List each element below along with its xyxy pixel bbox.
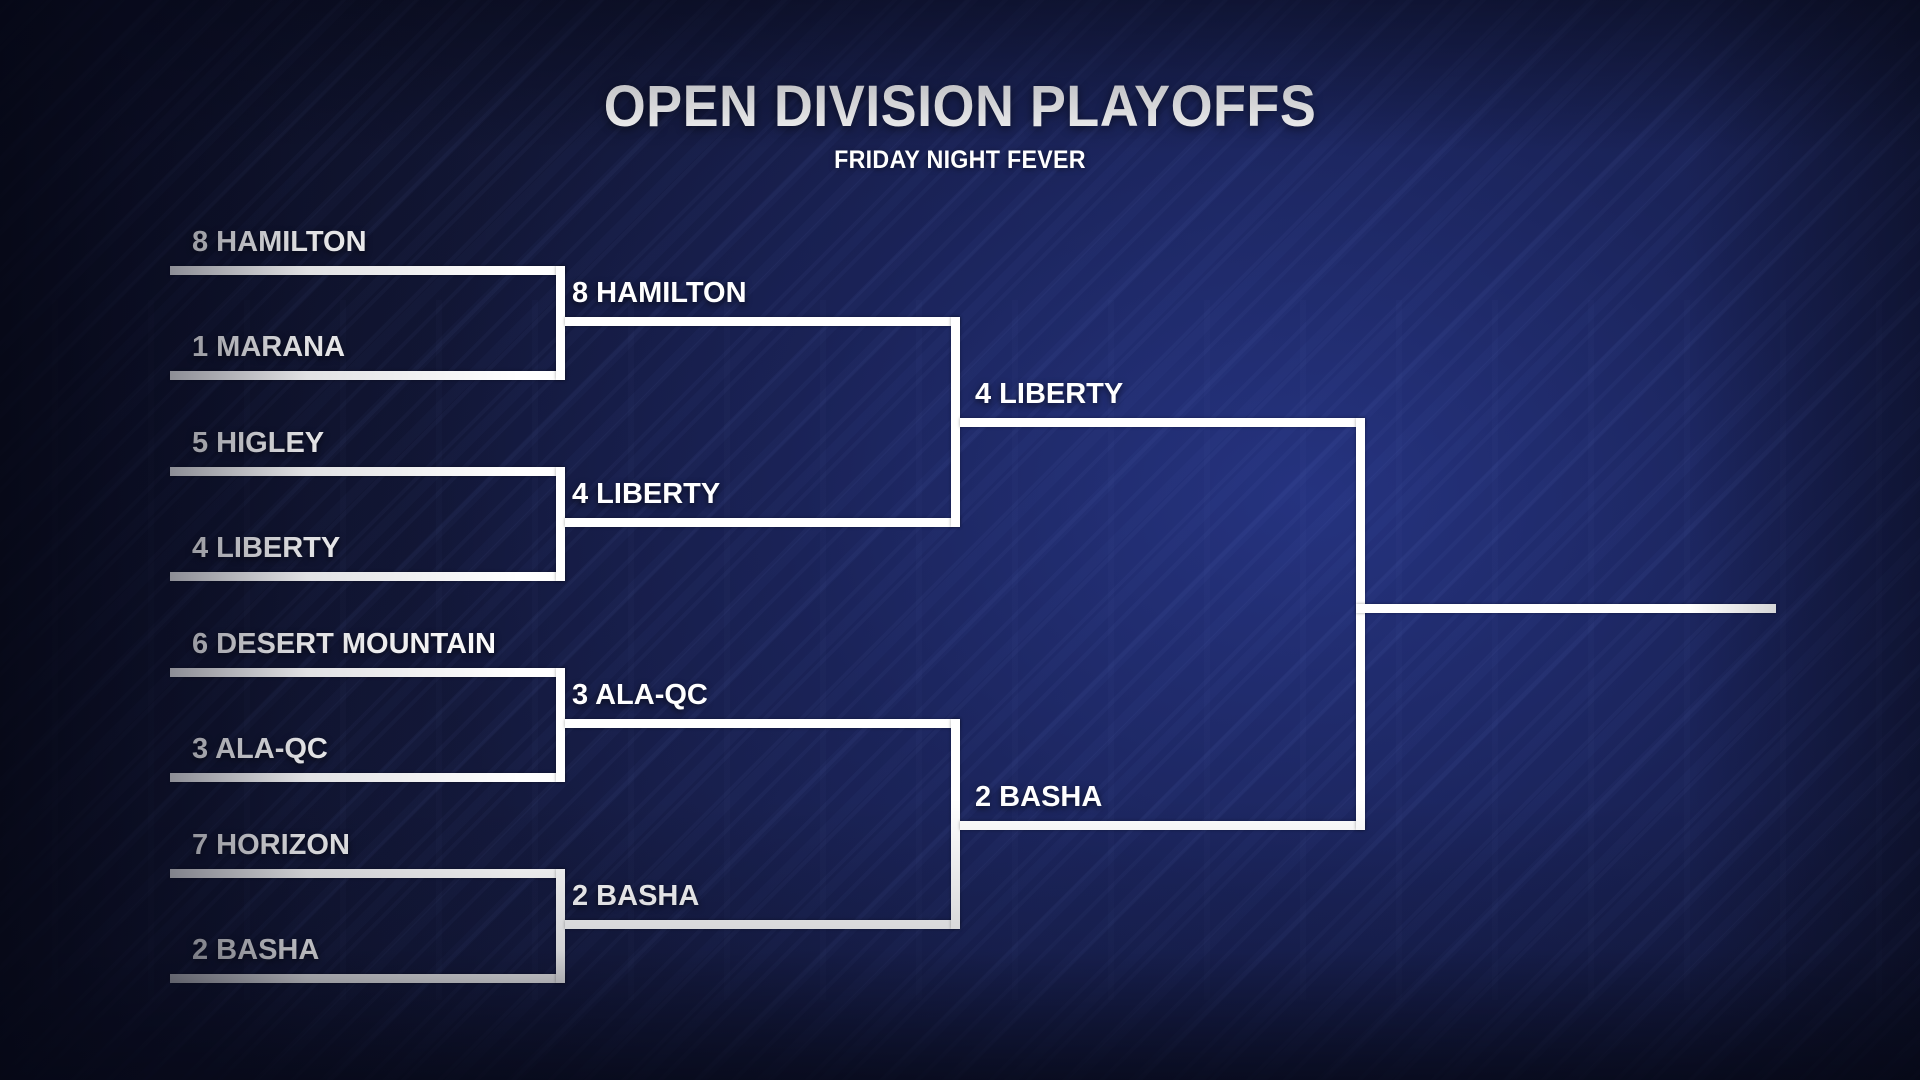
bracket-graphic: OPEN DIVISION PLAYOFFS FRIDAY NIGHT FEVE… <box>0 0 1920 1080</box>
bracket-slot-r3-bottom[interactable]: 2 BASHA <box>975 783 1102 812</box>
bracket-line-r1-m4-top <box>170 869 565 878</box>
bracket-line-champion <box>1356 604 1776 613</box>
bracket: 8 HAMILTON 1 MARANA 5 HIGLEY 4 LIBERTY 6… <box>0 0 1920 1080</box>
bracket-slot-r1-m1-bottom[interactable]: 1 MARANA <box>192 333 345 362</box>
bracket-slot-r1-m1-top[interactable]: 8 HAMILTON <box>192 228 367 257</box>
bracket-connector-r2-m2 <box>951 719 960 929</box>
bracket-slot-r1-m4-bottom[interactable]: 2 BASHA <box>192 936 319 965</box>
bracket-line-r3-top <box>960 418 1365 427</box>
bracket-line-r1-m4-bottom <box>170 974 565 983</box>
bracket-slot-r1-m4-top[interactable]: 7 HORIZON <box>192 831 350 860</box>
bracket-line-r1-m3-bottom <box>170 773 565 782</box>
bracket-connector-r1-m2 <box>556 467 565 581</box>
bracket-line-r1-m3-top <box>170 668 565 677</box>
bracket-line-r2-m1-bottom <box>565 518 960 527</box>
bracket-slot-r2-m1-top[interactable]: 8 HAMILTON <box>572 279 747 308</box>
bracket-slot-r3-top[interactable]: 4 LIBERTY <box>975 380 1123 409</box>
bracket-slot-r1-m2-bottom[interactable]: 4 LIBERTY <box>192 534 340 563</box>
bracket-slot-r1-m3-bottom[interactable]: 3 ALA-QC <box>192 735 328 764</box>
bracket-line-r2-m2-bottom <box>565 920 960 929</box>
bracket-slot-r2-m2-bottom[interactable]: 2 BASHA <box>572 882 699 911</box>
bracket-line-r1-m2-top <box>170 467 565 476</box>
bracket-line-r1-m1-top <box>170 266 565 275</box>
bracket-line-r3-bottom <box>960 821 1365 830</box>
bracket-line-r1-m2-bottom <box>170 572 565 581</box>
bracket-line-r1-m1-bottom <box>170 371 565 380</box>
bracket-connector-r1-m1 <box>556 266 565 380</box>
bracket-slot-r2-m1-bottom[interactable]: 4 LIBERTY <box>572 480 720 509</box>
bracket-connector-r3 <box>1356 418 1365 830</box>
bracket-connector-r2-m1 <box>951 317 960 527</box>
bracket-connector-r1-m3 <box>556 668 565 782</box>
bracket-connector-r1-m4 <box>556 869 565 983</box>
bracket-slot-r1-m2-top[interactable]: 5 HIGLEY <box>192 429 324 458</box>
bracket-line-r2-m1-top <box>565 317 960 326</box>
bracket-slot-r1-m3-top[interactable]: 6 DESERT MOUNTAIN <box>192 630 496 659</box>
bracket-slot-r2-m2-top[interactable]: 3 ALA-QC <box>572 681 708 710</box>
bracket-line-r2-m2-top <box>565 719 960 728</box>
